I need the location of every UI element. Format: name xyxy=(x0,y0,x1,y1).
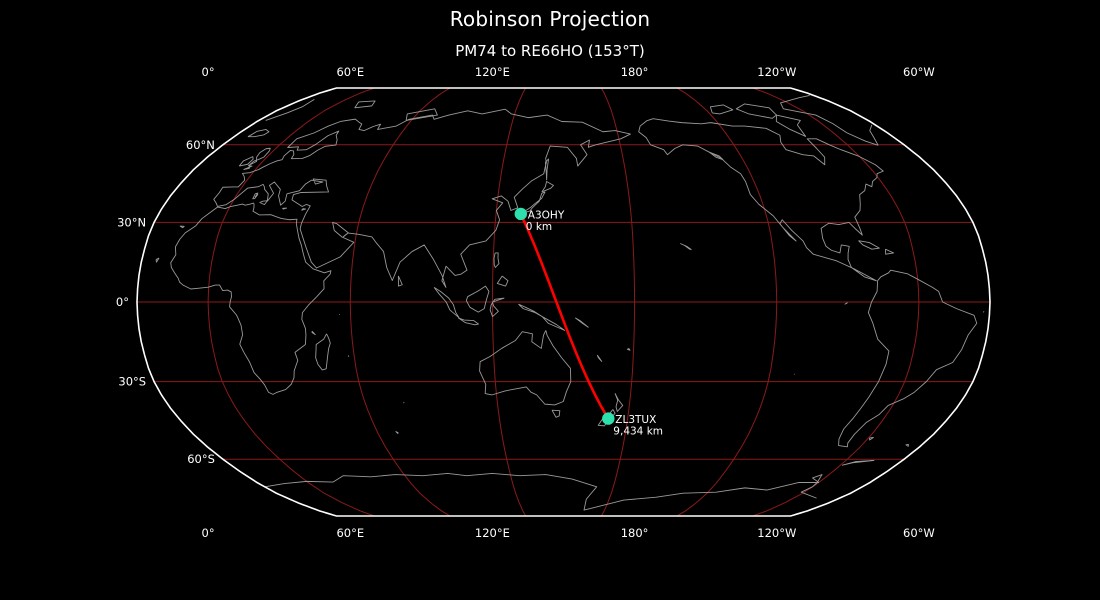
lon-tick-top-2: 120°E xyxy=(475,65,510,79)
longitude-labels-top: 0°60°E120°E180°120°W60°W xyxy=(202,65,935,79)
station-distance-zl3tux: 9,434 km xyxy=(613,426,663,438)
graticule-lines xyxy=(137,88,990,516)
station-callsign-zl3tux: ZL3TUX xyxy=(615,414,656,426)
lon-tick-top-1: 60°E xyxy=(336,65,364,79)
station-callsign-a3ohy: A3OHY xyxy=(528,209,565,221)
station-markers[interactable]: A3OHY0 kmZL3TUX9,434 km xyxy=(515,208,663,438)
lon-tick-top-3: 180° xyxy=(621,65,649,79)
station-marker-a3ohy[interactable] xyxy=(515,208,527,220)
station-distance-a3ohy: 0 km xyxy=(526,221,552,233)
lat-tick-4: 60°S xyxy=(187,452,215,466)
lon-tick-bottom-2: 120°E xyxy=(475,526,510,540)
lat-tick-2: 0° xyxy=(116,295,129,309)
lon-tick-top-5: 60°W xyxy=(903,65,935,79)
great-circle-path xyxy=(521,214,609,419)
lat-tick-3: 30°S xyxy=(118,375,146,389)
lat-tick-1: 30°N xyxy=(117,215,146,229)
lon-tick-bottom-1: 60°E xyxy=(336,526,364,540)
lon-tick-bottom-5: 60°W xyxy=(903,526,935,540)
longitude-labels-bottom: 0°60°E120°E180°120°W60°W xyxy=(202,526,935,540)
lon-tick-bottom-0: 0° xyxy=(202,526,215,540)
lon-tick-top-0: 0° xyxy=(202,65,215,79)
lon-tick-top-4: 120°W xyxy=(757,65,796,79)
map-figure: Robinson Projection PM74 to RE66HO (153°… xyxy=(0,0,1100,600)
lat-tick-0: 60°N xyxy=(186,138,215,152)
station-marker-zl3tux[interactable] xyxy=(602,412,614,424)
lon-tick-bottom-3: 180° xyxy=(621,526,649,540)
lon-tick-bottom-4: 120°W xyxy=(757,526,796,540)
robinson-map[interactable]: A3OHY0 kmZL3TUX9,434 km 0°60°E120°E180°1… xyxy=(0,0,1100,600)
